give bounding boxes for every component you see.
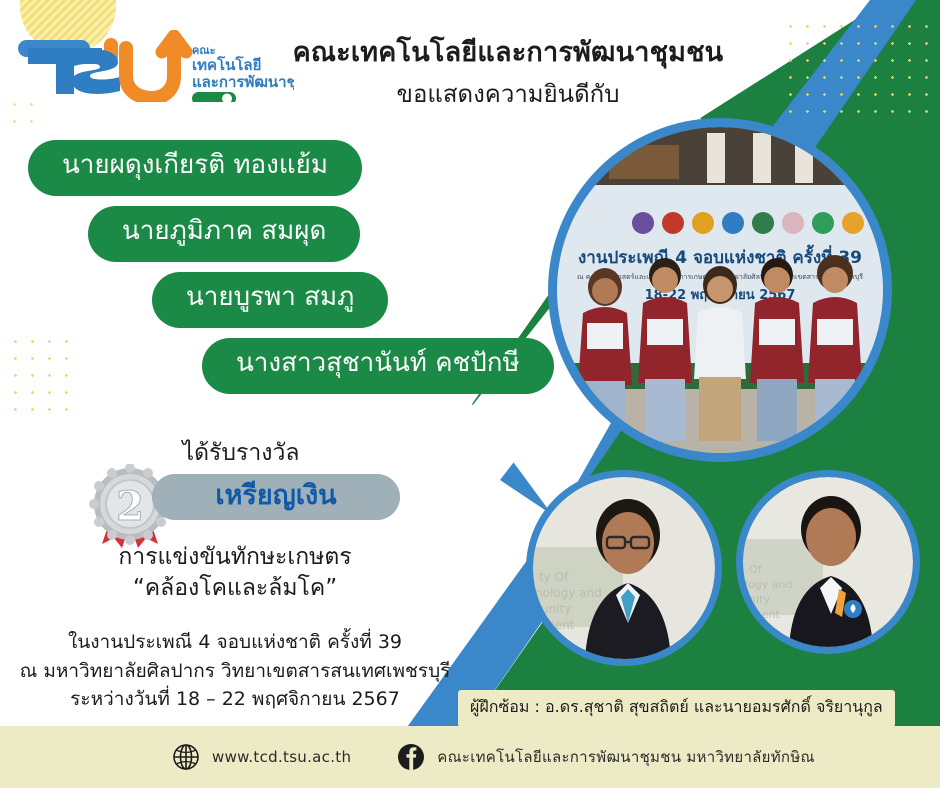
website-item[interactable]: www.tcd.tsu.ac.th (172, 743, 351, 771)
svg-text:ty Of: ty Of (539, 570, 569, 584)
event-line: ในงานประเพณี 4 จอบแห่งชาติ ครั้งที่ 39 (0, 628, 470, 657)
event-line: ระหว่างวันที่ 18 – 22 พฤศจิกายน 2567 (0, 685, 470, 714)
award-block: ได้รับรางวัล 2 (0, 440, 470, 604)
group-photo: งานประเพณี 4 จอบแห่งชาติ ครั้งที่ 39 ณ ค… (548, 118, 892, 462)
svg-text:ment: ment (543, 618, 575, 632)
faculty-name: คณะเทคโนโลยีและการพัฒนาชุมชน (268, 36, 748, 70)
event-line: ณ มหาวิทยาลัยศิลปากร วิทยาเขตสารสนเทศเพช… (0, 657, 470, 686)
svg-text:unity: unity (541, 602, 571, 616)
congratulations-line: ขอแสดงความยินดีกับ (268, 79, 748, 109)
contest-subtitle: “คล้องโคและล้มโค” (0, 573, 470, 604)
svg-text:logy and: logy and (745, 578, 792, 591)
group-photo-content: งานประเพณี 4 จอบแห่งชาติ ครั้งที่ 39 ณ ค… (557, 127, 883, 453)
website-url: www.tcd.tsu.ac.th (212, 748, 351, 766)
award-prefix-label: ได้รับรางวัล (12, 440, 470, 468)
svg-text:nology and: nology and (535, 586, 602, 600)
svg-text:ment: ment (751, 608, 780, 621)
trainer-portrait-left-content: ty Of nology and unity ment (533, 477, 715, 659)
logo-sub-line1: เทคโนโลยี (192, 55, 261, 74)
awardee-pill: นายผดุงเกียรติ ทองแย้ม (28, 140, 362, 196)
trainer-caption: ผู้ฝึกซ้อม : อ.ดร.สุชาติ สุขสถิตย์ และนา… (458, 690, 895, 727)
medal-row: 2 เหรียญเงิน (0, 470, 470, 532)
trainer-portrait-right: Of logy and nity ment (736, 470, 920, 654)
facebook-icon (397, 743, 425, 771)
trainer-portrait-left: ty Of nology and unity ment (526, 470, 722, 666)
awardee-pill: นายภูมิภาค สมผุด (88, 206, 360, 262)
congratulation-poster: คณะ เทคโนโลยี และการพัฒนาชุมชน คณะเทคโนโ… (0, 0, 940, 788)
awardee-pill: นางสาวสุชานันท์ คชปักษี (202, 338, 554, 394)
facebook-item[interactable]: คณะเทคโนโลยีและการพัฒนาชุมชน มหาวิทยาลัย… (397, 743, 814, 771)
awardee-name-list: นายผดุงเกียรติ ทองแย้ม นายภูมิภาค สมผุด … (0, 140, 560, 404)
globe-icon (172, 743, 200, 771)
contest-name: การแข่งขันทักษะเกษตร (0, 542, 470, 573)
header-text-block: คณะเทคโนโลยีและการพัฒนาชุมชน ขอแสดงความย… (268, 36, 748, 109)
trainer-portrait-right-content: Of logy and nity ment (743, 477, 913, 647)
footer-bar: www.tcd.tsu.ac.th คณะเทคโนโลยีและการพัฒน… (0, 726, 940, 788)
svg-text:nity: nity (749, 593, 770, 606)
event-details: ในงานประเพณี 4 จอบแห่งชาติ ครั้งที่ 39 ณ… (0, 628, 470, 714)
medal-number: 2 (116, 483, 144, 530)
dot-grid-top-right (782, 18, 932, 123)
tsu-faculty-logo: คณะ เทคโนโลยี และการพัฒนาชุมชน (22, 30, 294, 102)
dot-grid-upper-left (6, 96, 46, 136)
medal-label: เหรียญเงิน (215, 473, 336, 520)
svg-text:Of: Of (749, 563, 763, 576)
medal-banner: เหรียญเงิน (152, 474, 400, 520)
facebook-page-name: คณะเทคโนโลยีและการพัฒนาชุมชน มหาวิทยาลัย… (437, 745, 814, 769)
awardee-pill: นายบูรพา สมภู (152, 272, 388, 328)
